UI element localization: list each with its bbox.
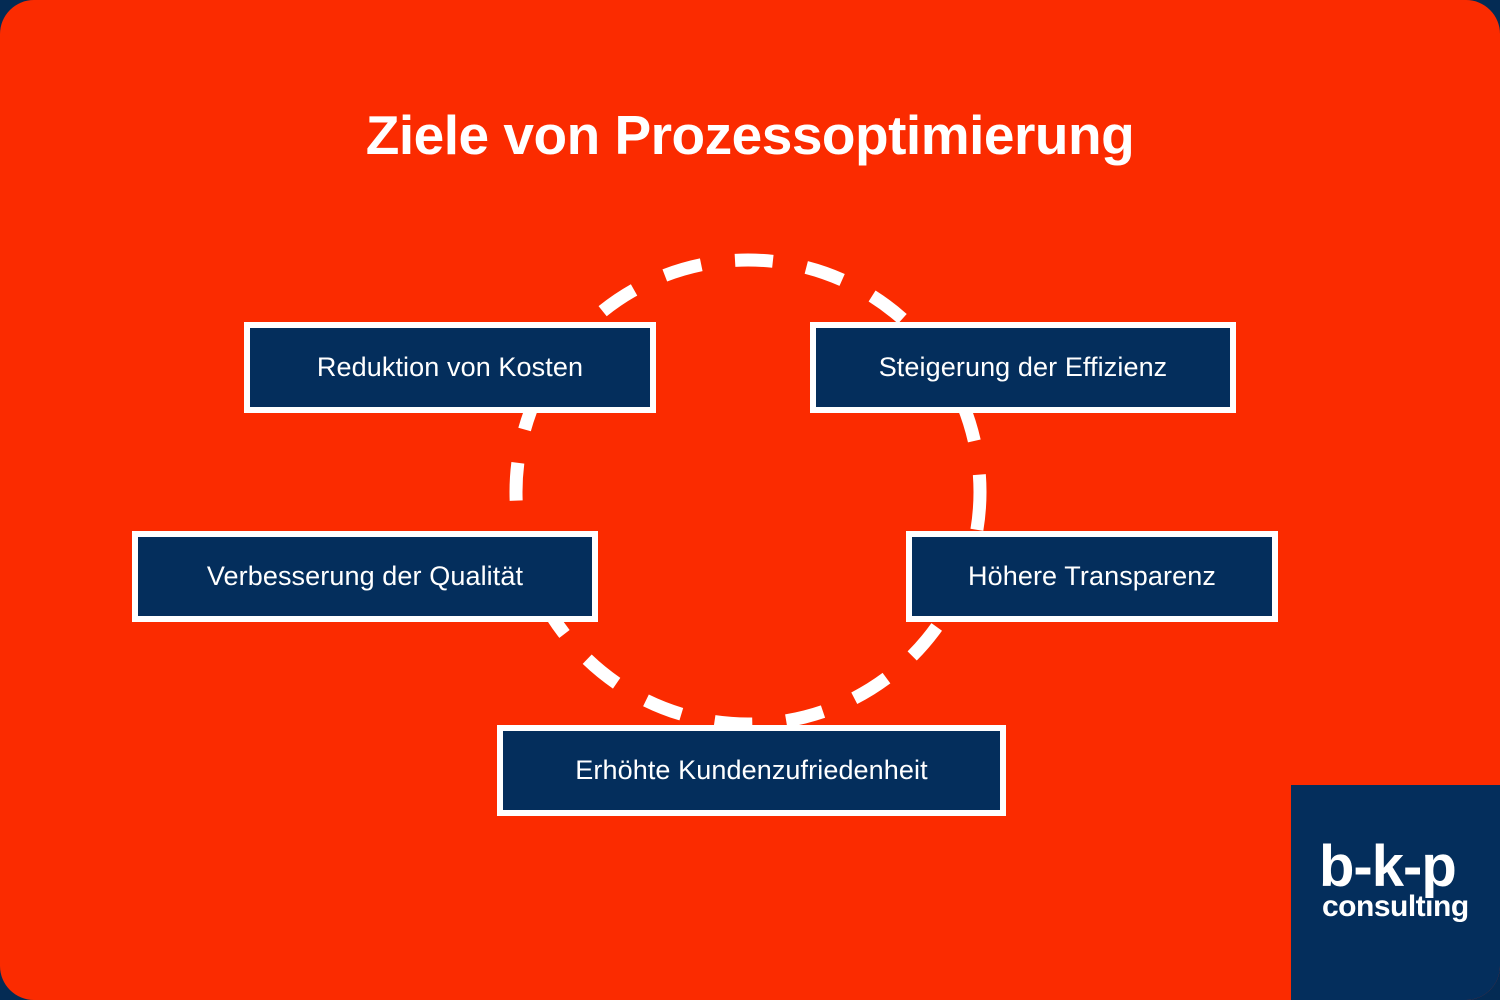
slide-panel: Ziele von Prozessoptimierung Reduktion v…	[0, 0, 1500, 1000]
diagram-node-steigerung-der-effizienz[interactable]: Steigerung der Effizienz	[810, 322, 1236, 413]
diagram-node-label: Verbesserung der Qualität	[207, 561, 523, 592]
diagram-node-verbesserung-der-qualitaet[interactable]: Verbesserung der Qualität	[132, 531, 598, 622]
diagram-node-label: Steigerung der Effizienz	[879, 352, 1168, 383]
diagram-node-label: Höhere Transparenz	[968, 561, 1216, 592]
slide-canvas: Ziele von Prozessoptimierung Reduktion v…	[0, 0, 1500, 1000]
diagram-node-hoehere-transparenz[interactable]: Höhere Transparenz	[906, 531, 1278, 622]
diagram-node-label: Reduktion von Kosten	[317, 352, 583, 383]
logo-wordmark: b-k-p	[1319, 838, 1456, 896]
diagram-node-erhoehte-kundenzufriedenheit[interactable]: Erhöhte Kundenzufriedenheit	[497, 725, 1006, 816]
diagram-node-label: Erhöhte Kundenzufriedenheit	[575, 755, 927, 786]
bkp-consulting-logo: b-k-p consulting	[1291, 785, 1500, 1000]
diagram-node-reduktion-von-kosten[interactable]: Reduktion von Kosten	[244, 322, 656, 413]
page-title: Ziele von Prozessoptimierung	[0, 104, 1500, 166]
logo-subtitle: consulting	[1322, 892, 1469, 922]
